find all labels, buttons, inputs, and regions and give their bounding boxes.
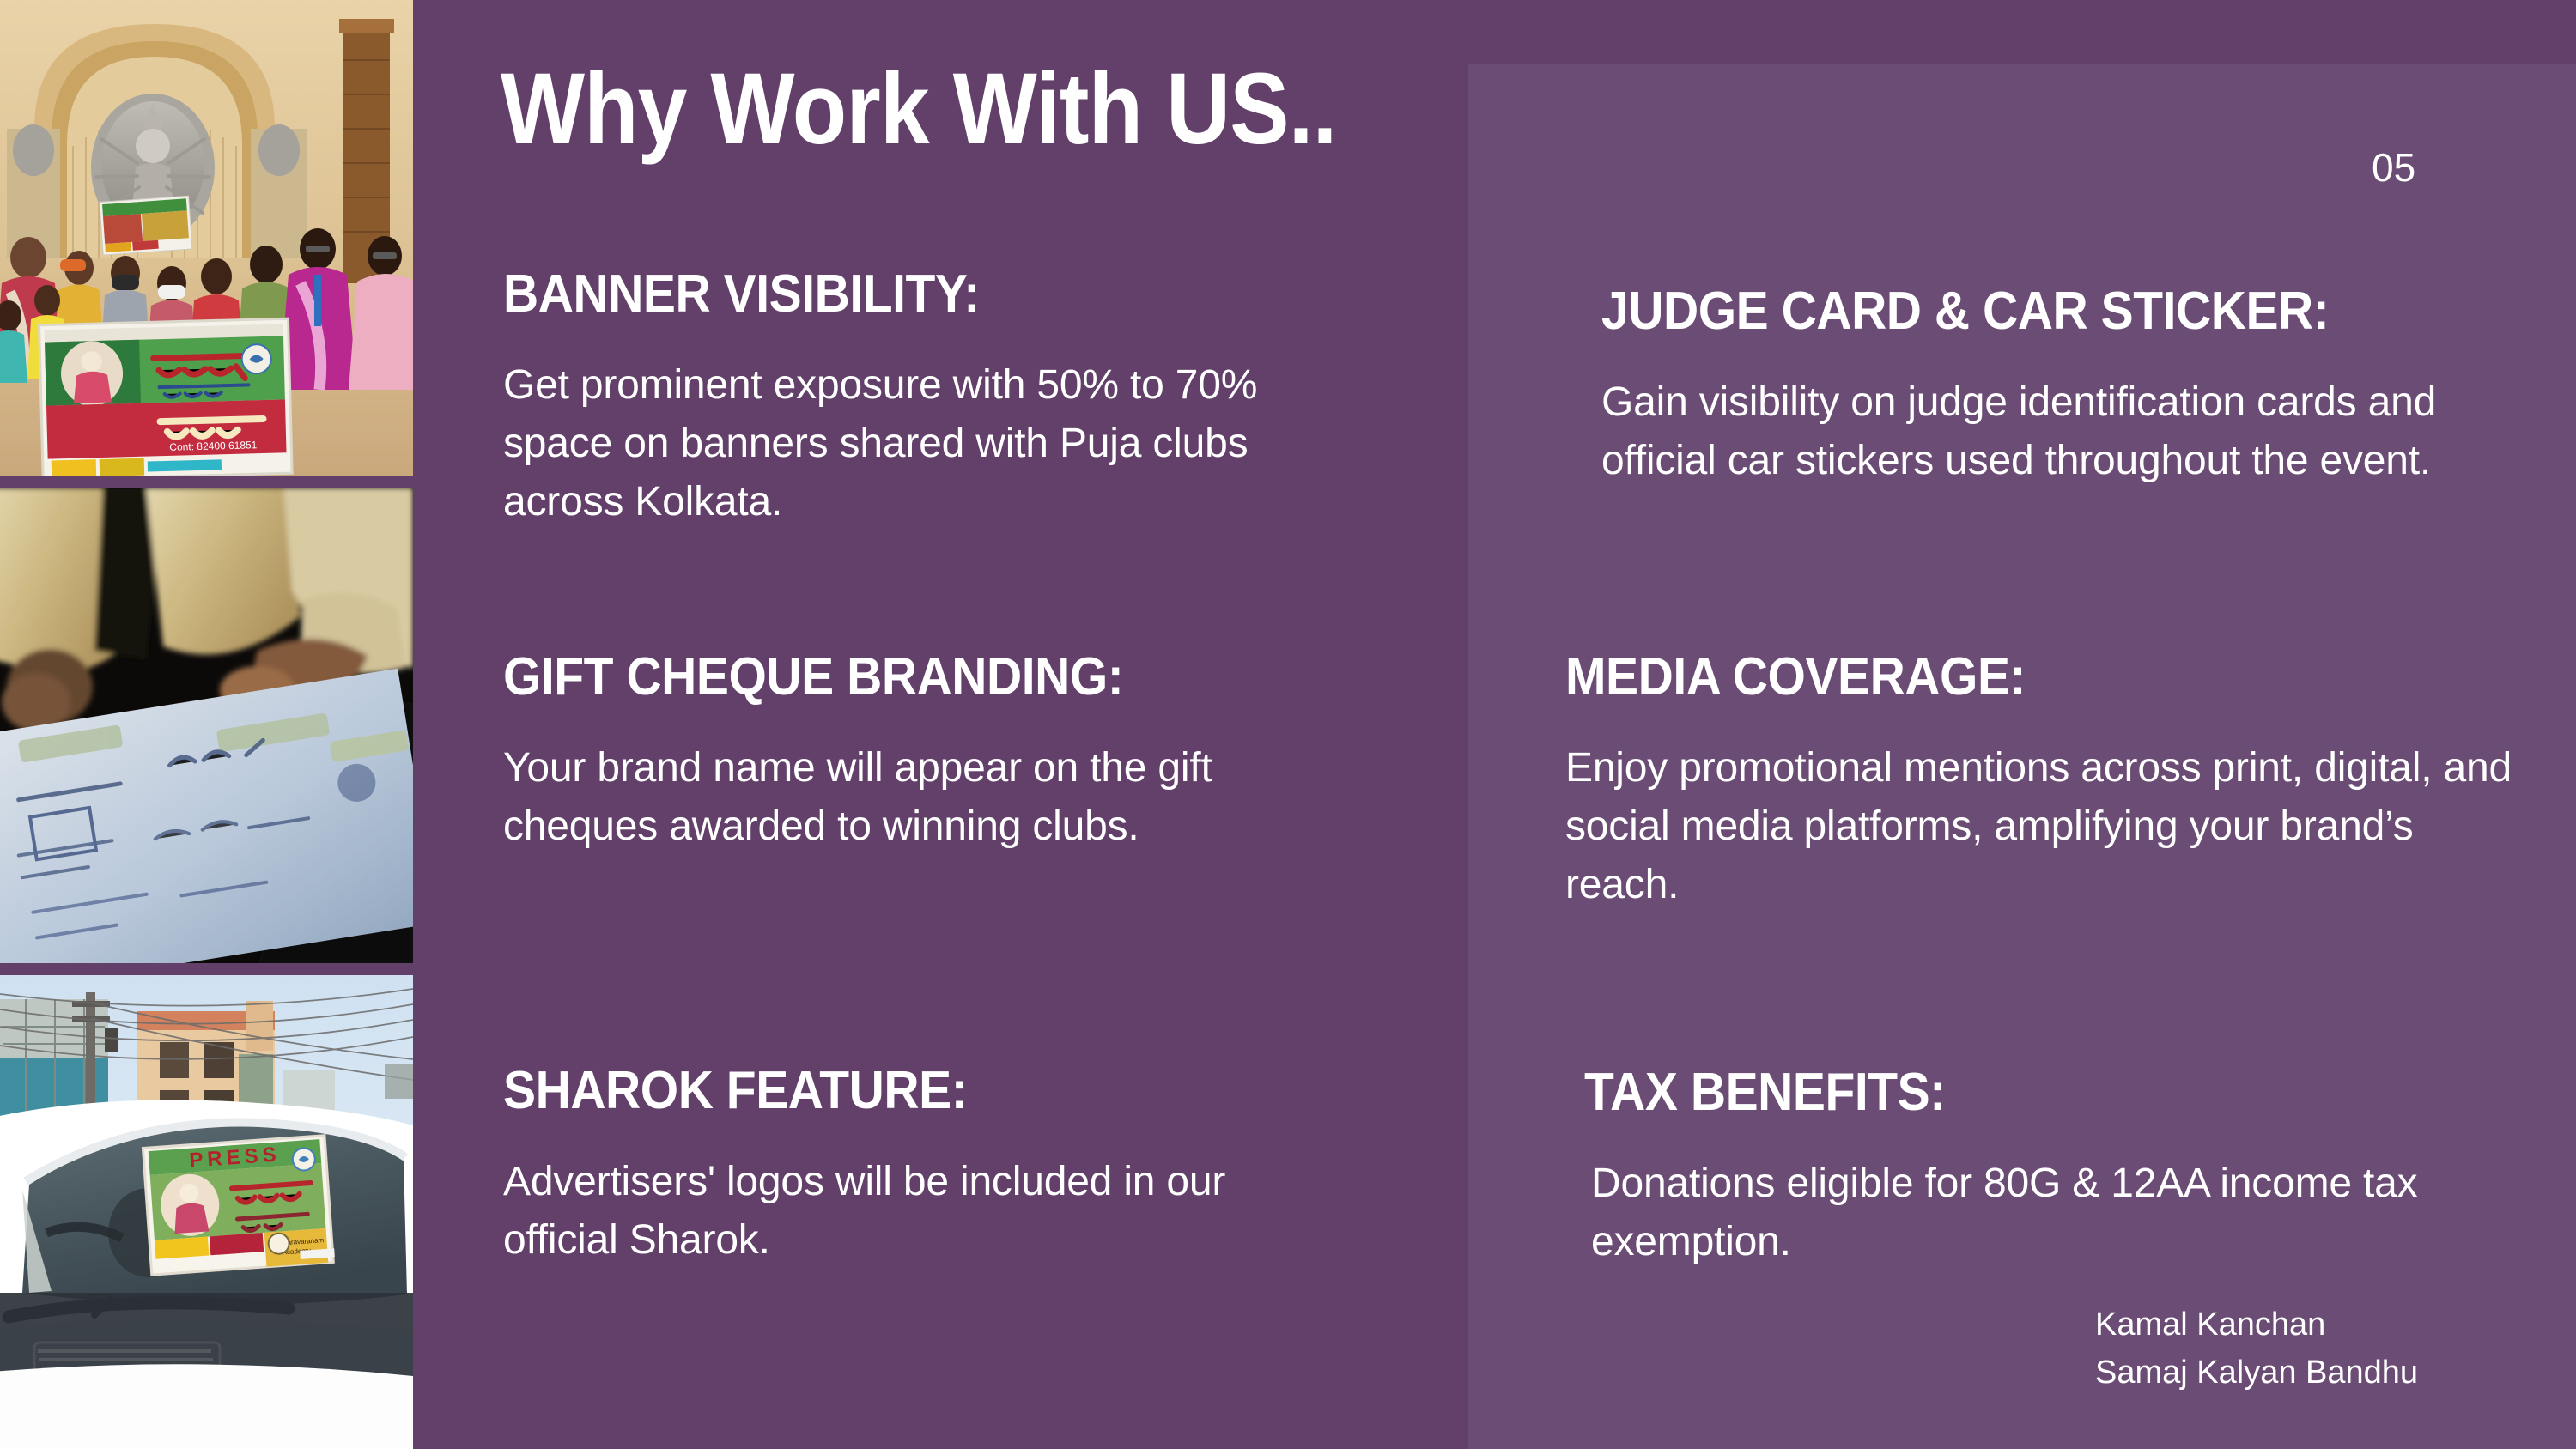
slide: Cont: 82400 61851 [0, 0, 2576, 1449]
feature-block-judge-card-car-sticker: JUDGE CARD & CAR STICKER: Gain visibilit… [1601, 283, 2512, 490]
feature-body-sharok-feature: Advertisers' logos will be included in o… [503, 1153, 1276, 1270]
feature-block-gift-cheque-branding: GIFT CHEQUE BRANDING: Your brand name wi… [503, 649, 1259, 856]
page-title: Why Work With US.. [501, 58, 1337, 160]
photo-strip: Cont: 82400 61851 [0, 0, 413, 1449]
signature-block: Kamal Kanchan Samaj Kalyan Bandhu [2095, 1300, 2418, 1397]
feature-body-tax-benefits: Donations eligible for 80G & 12AA income… [1591, 1155, 2494, 1271]
feature-heading-sharok-feature: SHAROK FEATURE: [503, 1063, 1214, 1119]
page-number: 05 [2372, 144, 2415, 191]
feature-body-banner-visibility: Get prominent exposure with 50% to 70% s… [503, 356, 1259, 531]
feature-heading-tax-benefits: TAX BENEFITS: [1584, 1064, 2421, 1120]
durga-puja-group-photo: Cont: 82400 61851 [0, 0, 413, 476]
press-car-sticker-photo: PRESS [0, 975, 413, 1449]
feature-body-judge-card-car-sticker: Gain visibility on judge identification … [1601, 373, 2512, 490]
svg-text:Cont: 82400 61851: Cont: 82400 61851 [169, 439, 258, 453]
feature-heading-media-coverage: MEDIA COVERAGE: [1565, 649, 2450, 705]
gift-cheque-photo [0, 488, 413, 963]
feature-body-gift-cheque-branding: Your brand name will appear on the gift … [503, 739, 1259, 856]
feature-heading-banner-visibility: BANNER VISIBILITY: [503, 266, 1199, 322]
feature-block-tax-benefits: TAX BENEFITS: Donations eligible for 80G… [1584, 1064, 2494, 1271]
feature-block-sharok-feature: SHAROK FEATURE: Advertisers' logos will … [503, 1063, 1276, 1270]
feature-block-media-coverage: MEDIA COVERAGE: Enjoy promotional mentio… [1565, 649, 2527, 915]
feature-body-media-coverage: Enjoy promotional mentions across print,… [1565, 739, 2527, 914]
feature-block-banner-visibility: BANNER VISIBILITY: Get prominent exposur… [503, 266, 1259, 532]
signature-organization: Samaj Kalyan Bandhu [2095, 1349, 2418, 1397]
feature-heading-gift-cheque-branding: GIFT CHEQUE BRANDING: [503, 649, 1199, 705]
feature-heading-judge-card-car-sticker: JUDGE CARD & CAR STICKER: [1601, 283, 2439, 339]
signature-name: Kamal Kanchan [2095, 1300, 2418, 1349]
